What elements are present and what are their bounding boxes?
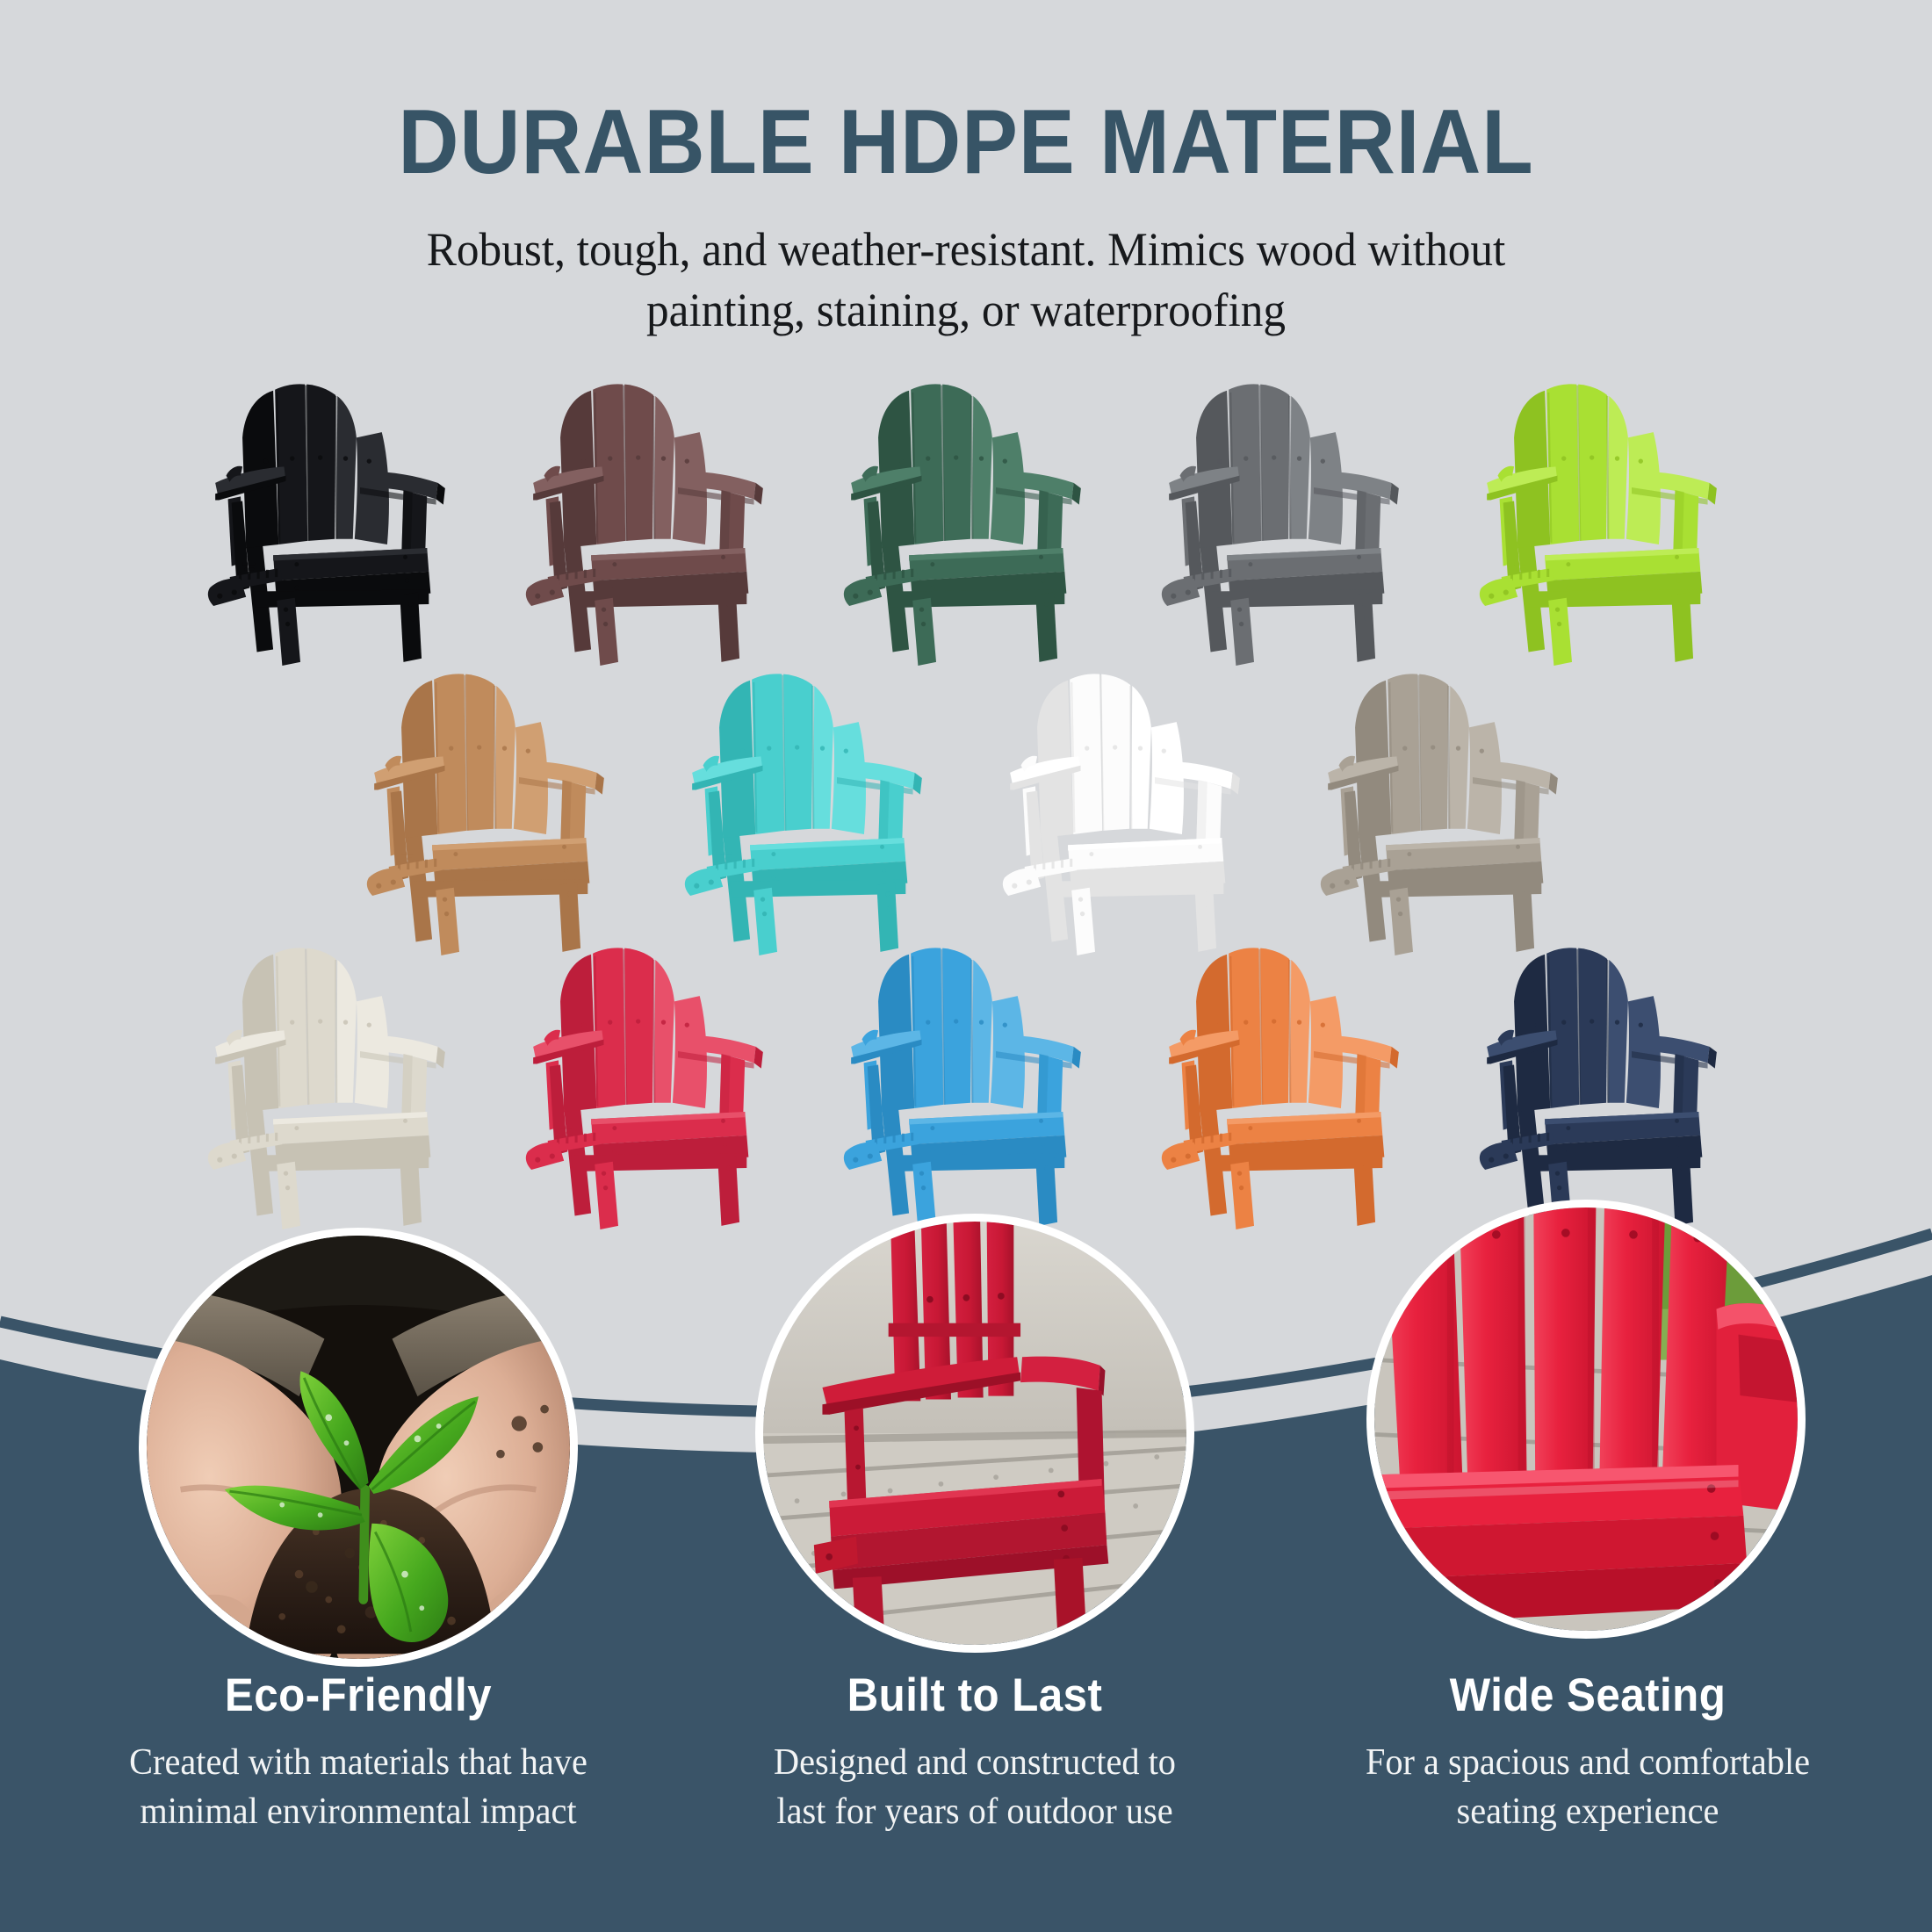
chair-swatch-brown[interactable] xyxy=(503,367,793,666)
chair-swatch-light-blue[interactable] xyxy=(821,931,1111,1229)
chair-row-1 xyxy=(185,367,1747,666)
adirondack-chair-graphic xyxy=(503,367,793,666)
chair-swatch-teak[interactable] xyxy=(344,657,634,955)
chair-row-3 xyxy=(185,931,1747,1229)
feature-image-built-to-last xyxy=(755,1214,1194,1653)
adirondack-chair-graphic xyxy=(821,367,1111,666)
chair-image-dark-green xyxy=(821,367,1111,666)
feature-desc-line2-built-to-last: last for years of outdoor use xyxy=(680,1787,1270,1836)
chair-image-turquoise xyxy=(662,657,952,955)
chair-swatch-taupe[interactable] xyxy=(1298,657,1588,955)
adirondack-chair-graphic xyxy=(1298,657,1588,955)
chair-swatch-lime-green[interactable] xyxy=(1457,367,1747,666)
adirondack-chair-graphic xyxy=(1139,931,1429,1229)
chair-swatch-dark-green[interactable] xyxy=(821,367,1111,666)
feature-desc-line2-eco-friendly: minimal environmental impact xyxy=(63,1787,653,1836)
feature-desc-line1-eco-friendly: Created with materials that have xyxy=(63,1738,653,1787)
chair-swatch-crimson[interactable] xyxy=(503,931,793,1229)
adirondack-chair-graphic xyxy=(185,931,475,1229)
chair-image-teak xyxy=(344,657,634,955)
infographic-canvas: DURABLE HDPE MATERIAL Robust, tough, and… xyxy=(0,0,1932,1932)
adirondack-chair-graphic xyxy=(1457,367,1747,666)
adirondack-chair-graphic xyxy=(185,367,475,666)
chair-swatch-ivory[interactable] xyxy=(185,931,475,1229)
chair-image-brown xyxy=(503,367,793,666)
chair-swatch-navy[interactable] xyxy=(1457,931,1747,1229)
feature-text-built-to-last: Built to Last Designed and constructed t… xyxy=(667,1669,1282,1837)
chair-image-gray xyxy=(1139,367,1429,666)
feature-desc-line1-built-to-last: Designed and constructed to xyxy=(680,1738,1270,1787)
feature-desc-line2-wide-seating: seating experience xyxy=(1293,1787,1883,1836)
feature-text-wide-seating: Wide Seating For a spacious and comforta… xyxy=(1280,1669,1895,1837)
feature-text-eco-friendly: Eco-Friendly Created with materials that… xyxy=(51,1669,666,1837)
chair-swatch-white[interactable] xyxy=(980,657,1270,955)
wide-seat-photo-inner xyxy=(1374,1207,1798,1631)
subtitle-line-2: painting, staining, or waterproofing xyxy=(315,280,1617,341)
page-subtitle: Robust, tough, and weather-resistant. Mi… xyxy=(315,220,1617,341)
eco-photo-inner xyxy=(147,1236,570,1659)
chair-image-taupe xyxy=(1298,657,1588,955)
page-title: DURABLE HDPE MATERIAL xyxy=(77,0,1855,188)
feature-heading-wide-seating: Wide Seating xyxy=(1302,1669,1874,1722)
feature-desc-line1-wide-seating: For a spacious and comfortable xyxy=(1293,1738,1883,1787)
chair-image-navy xyxy=(1457,931,1747,1229)
chair-image-crimson xyxy=(503,931,793,1229)
adirondack-chair-graphic xyxy=(662,657,952,955)
adirondack-chair-graphic xyxy=(1457,931,1747,1229)
adirondack-chair-graphic xyxy=(344,657,634,955)
chair-swatch-turquoise[interactable] xyxy=(662,657,952,955)
chair-image-white xyxy=(980,657,1270,955)
chair-image-light-blue xyxy=(821,931,1111,1229)
feature-heading-eco-friendly: Eco-Friendly xyxy=(73,1669,645,1722)
subtitle-line-1: Robust, tough, and weather-resistant. Mi… xyxy=(315,220,1617,280)
adirondack-chair-graphic xyxy=(980,657,1270,955)
feature-image-wide-seating xyxy=(1366,1200,1806,1639)
chair-image-lime-green xyxy=(1457,367,1747,666)
chair-image-ivory xyxy=(185,931,475,1229)
feature-heading-built-to-last: Built to Last xyxy=(689,1669,1261,1722)
adirondack-chair-graphic xyxy=(821,931,1111,1229)
chair-row-2 xyxy=(344,657,1588,955)
feature-image-eco-friendly xyxy=(139,1228,578,1667)
chair-image-black xyxy=(185,367,475,666)
chair-swatch-black[interactable] xyxy=(185,367,475,666)
chair-swatch-orange[interactable] xyxy=(1139,931,1429,1229)
adirondack-chair-graphic xyxy=(503,931,793,1229)
header: DURABLE HDPE MATERIAL Robust, tough, and… xyxy=(0,0,1932,341)
chair-swatch-gray[interactable] xyxy=(1139,367,1429,666)
built-photo-inner xyxy=(763,1222,1186,1645)
adirondack-chair-graphic xyxy=(1139,367,1429,666)
chair-image-orange xyxy=(1139,931,1429,1229)
